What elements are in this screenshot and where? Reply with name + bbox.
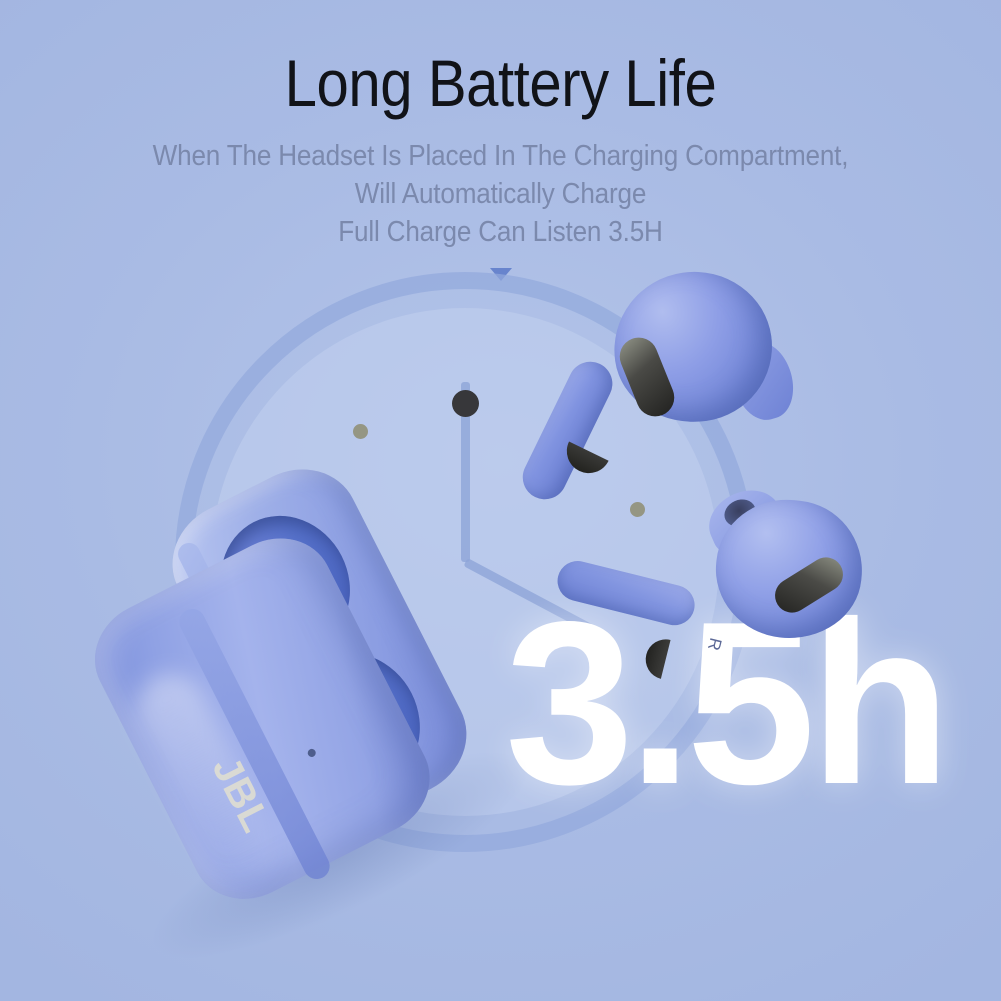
led-indicator-dot [306,748,317,759]
earbud-right: R [672,492,902,704]
subtitle-line-3: Full Charge Can Listen 3.5H [50,218,951,247]
earbud-right-channel-label: R [703,636,725,653]
subtitle-line-1: When The Headset Is Placed In The Chargi… [50,142,951,171]
page-title: Long Battery Life [60,50,941,116]
subtitle-line-2: Will Automatically Charge [50,180,951,209]
hour-dot-12 [452,390,479,417]
earbud-left [556,272,796,520]
product-feature-banner: Long Battery Life When The Headset Is Pl… [0,0,1001,1001]
hour-dot-11 [353,424,368,439]
